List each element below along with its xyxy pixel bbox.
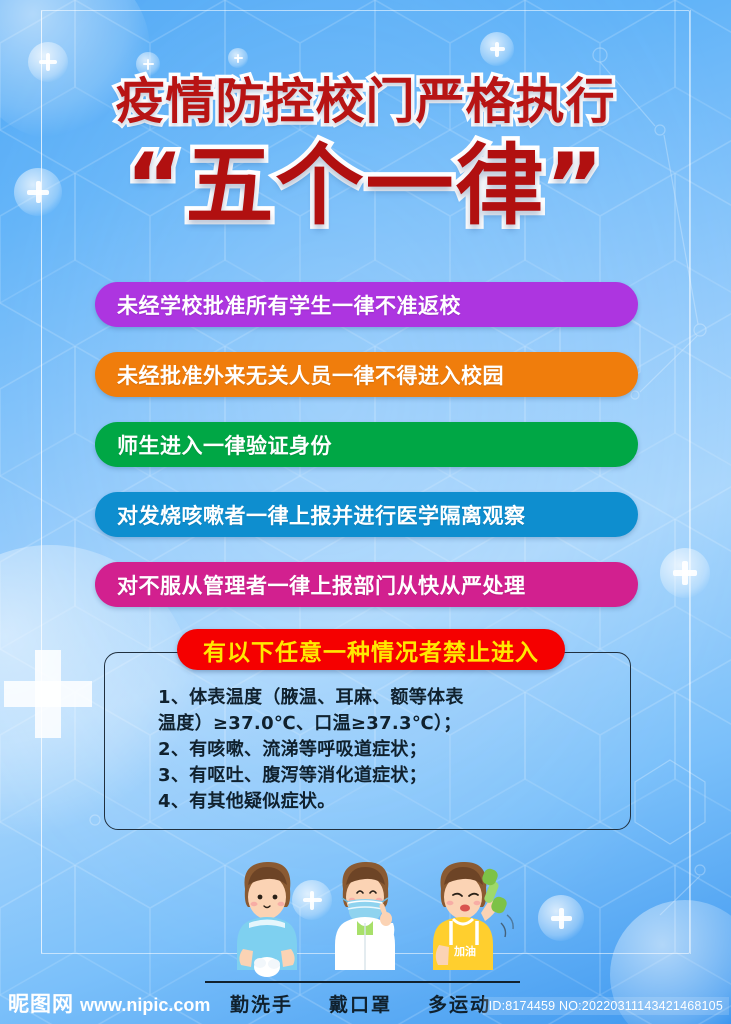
nipic-brand-url: www.nipic.com [80, 995, 210, 1016]
image-id-watermark: ID:8174459 NO:20220311143421468105 [483, 997, 729, 1015]
notice-item-1: 1、体表温度（腋温、耳麻、额等体表 温度）≥37.0℃、口温≥37.3℃）； [158, 685, 598, 737]
poster-title: 疫情防控校门严格执行 “五个一律” [0, 76, 731, 233]
rule-label-2: 未经批准外来无关人员一律不得进入校园 [117, 360, 504, 390]
slogan-exercise: 多运动 [428, 990, 491, 1017]
svg-text:加油: 加油 [453, 944, 476, 958]
nipic-brand-cn: 昵图网 [8, 988, 74, 1018]
notice-item-2: 2、有咳嗽、流涕等呼吸道症状； [158, 737, 598, 763]
rule-label-4: 对发烧咳嗽者一律上报并进行医学隔离观察 [117, 500, 526, 530]
rule-label-1: 未经学校批准所有学生一律不准返校 [117, 290, 461, 320]
rule-label-3: 师生进入一律验证身份 [117, 430, 332, 460]
poster-canvas: 疫情防控校门严格执行 “五个一律” 未经学校批准所有学生一律不准返校 未经批准外… [0, 0, 731, 1024]
nipic-logo[interactable]: 昵图网 www.nipic.com [8, 988, 210, 1018]
rule-pill-1[interactable]: 未经学校批准所有学生一律不准返校 [95, 282, 638, 327]
rule-pill-3[interactable]: 师生进入一律验证身份 [95, 422, 638, 467]
notice-condition-list: 1、体表温度（腋温、耳麻、额等体表 温度）≥37.0℃、口温≥37.3℃）； 2… [158, 685, 598, 815]
ground-line [205, 981, 520, 983]
plus-icon-large-left [4, 650, 92, 738]
plus-icon-badge-right [660, 548, 710, 598]
notice-banner-label: 有以下任意一种情况者禁止进入 [203, 633, 539, 667]
plus-icon-badge-topright [480, 32, 514, 66]
footer-slogans: 勤洗手 戴口罩 多运动 [230, 990, 491, 1017]
rule-pill-4[interactable]: 对发烧咳嗽者一律上报并进行医学隔离观察 [95, 492, 638, 537]
wear-mask-child [335, 862, 395, 970]
notice-item-4: 4、有其他疑似症状。 [158, 789, 598, 815]
plus-icon-badge-bottomright [538, 895, 584, 941]
notice-item-3: 3、有呕吐、腹泻等消化道症状； [158, 763, 598, 789]
rule-label-5: 对不服从管理者一律上报部门从快从严处理 [117, 570, 526, 600]
title-line-1: 疫情防控校门严格执行 [0, 76, 731, 128]
wash-hands-child [237, 862, 297, 977]
rule-pill-2[interactable]: 未经批准外来无关人员一律不得进入校园 [95, 352, 638, 397]
title-line-2: “五个一律” [0, 138, 731, 233]
slogan-wash-hands: 勤洗手 [230, 990, 293, 1017]
health-habit-illustration: 加油 [215, 845, 515, 985]
plus-icon-badge-topcenter [228, 48, 248, 68]
rule-pill-5[interactable]: 对不服从管理者一律上报部门从快从严处理 [95, 562, 638, 607]
rules-list: 未经学校批准所有学生一律不准返校 未经批准外来无关人员一律不得进入校园 师生进入… [95, 282, 638, 632]
notice-banner: 有以下任意一种情况者禁止进入 [177, 629, 565, 670]
slogan-wear-mask: 戴口罩 [329, 990, 392, 1017]
exercise-child: 加油 [433, 862, 513, 970]
